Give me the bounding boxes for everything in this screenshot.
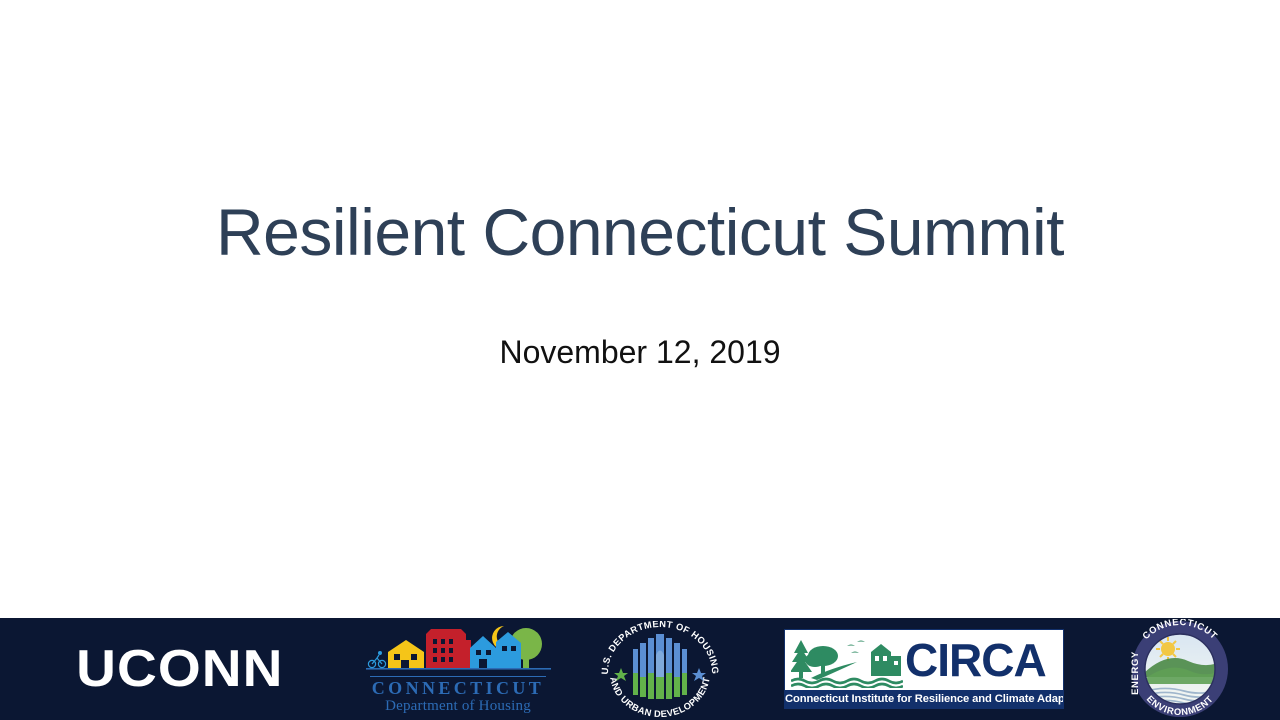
circa-logo-main: CIRCA [785,630,1063,690]
connecticut-energy-environment-seal-logo: CONNECTICUT ENVIRONMENT ENERGY [1118,618,1242,720]
connecticut-department-of-housing-logo: CONNECTICUT Department of Housing [352,618,564,720]
uconn-wordmark: UCONN [76,643,283,695]
uconn-logo: UCONN [30,618,330,720]
circa-logo-box: CIRCA Connecticut Institute for Resilien… [784,629,1064,709]
presentation-slide: Resilient Connecticut Summit November 12… [0,0,1280,720]
hud-seal-icon: U.S. DEPARTMENT OF HOUSING AND URBAN DEV… [596,621,724,717]
page-title: Resilient Connecticut Summit [0,196,1280,270]
housing-logo-department-label: Department of Housing [385,698,531,715]
housing-logo-divider [370,676,546,677]
housing-logo-state-label: CONNECTICUT [372,679,544,698]
circa-landscape-icon [791,632,903,688]
slide-subtitle-date: November 12, 2019 [0,270,1280,371]
deep-seal-icon: CONNECTICUT ENVIRONMENT ENERGY [1124,619,1236,719]
footer-logo-band: UCONN [0,618,1280,720]
circa-logo: CIRCA Connecticut Institute for Resilien… [784,618,1064,720]
svg-text:ENERGY: ENERGY [1129,651,1140,695]
circa-wordmark: CIRCA [905,637,1046,683]
circa-tagline: Connecticut Institute for Resilience and… [785,690,1063,708]
hud-seal-logo: U.S. DEPARTMENT OF HOUSING AND URBAN DEV… [590,618,730,720]
title-block: Resilient Connecticut Summit November 12… [0,196,1280,371]
housing-skyline-icon [366,622,551,674]
